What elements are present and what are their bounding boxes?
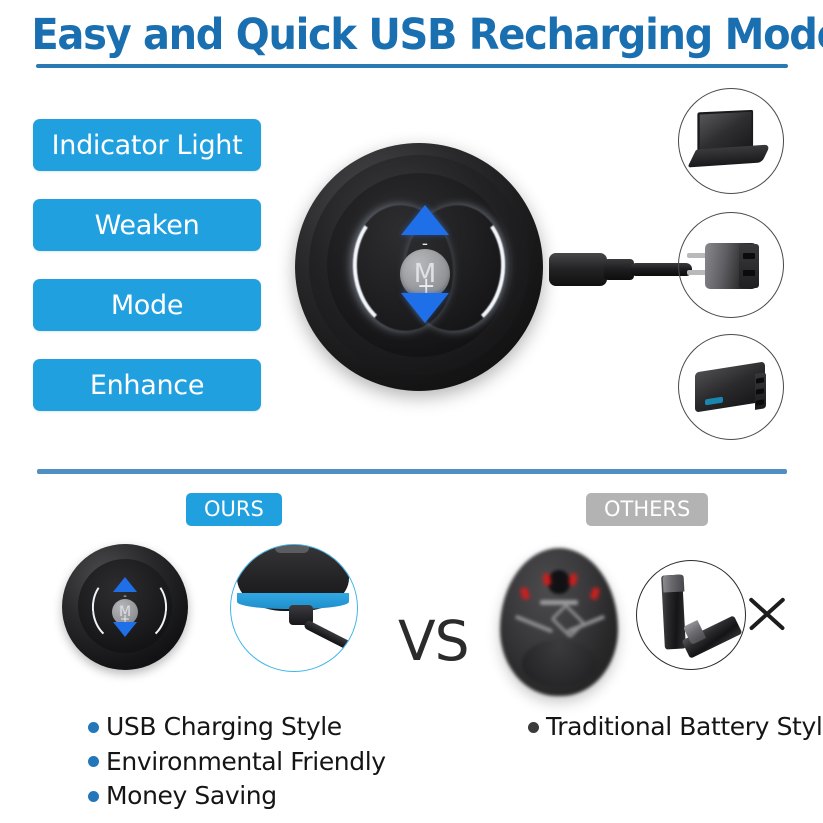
main-device-image: - M +: [295, 143, 555, 403]
feature-chip-enhance[interactable]: Enhance: [33, 359, 261, 411]
list-item: USB Charging Style: [88, 712, 386, 743]
list-item: Money Saving: [88, 781, 386, 812]
list-item-label: Environmental Friendly: [106, 747, 386, 778]
infographic-page: Easy and Quick USB Recharging Modes Indi…: [0, 0, 823, 823]
ours-benefit-list: USB Charging Style Environmental Friendl…: [88, 712, 386, 816]
feature-chip-label: Mode: [111, 292, 183, 319]
bullet-dot-icon: [88, 722, 99, 733]
others-device-stripe: [515, 615, 554, 634]
list-item: Traditional Battery Styles: [528, 712, 823, 743]
usb-cable-connector: [549, 253, 607, 286]
list-item-label: USB Charging Style: [106, 712, 342, 743]
list-item: Environmental Friendly: [88, 747, 386, 778]
feature-chip-indicator-light[interactable]: Indicator Light: [33, 119, 261, 171]
bullet-dot-icon: [88, 756, 99, 767]
ours-badge-label: OURS: [204, 499, 264, 520]
power-bank-icon: [678, 334, 784, 440]
usb-port-closeup-image: [230, 544, 358, 672]
vs-label: VS: [398, 614, 469, 669]
list-item-label: Money Saving: [106, 781, 277, 812]
others-device-led: [520, 587, 529, 599]
bullet-dot-icon: [88, 791, 99, 802]
adapter-face: [739, 244, 759, 288]
feature-chip-mode[interactable]: Mode: [33, 279, 261, 331]
list-item-label: Traditional Battery Styles: [546, 712, 823, 743]
adapter-pin: [687, 270, 707, 275]
weaken-triangle-up-icon[interactable]: [401, 205, 449, 235]
adapter-usb-port: [743, 253, 755, 259]
page-title-text: Easy and Quick USB Recharging Modes: [31, 14, 823, 57]
others-badge: OTHERS: [586, 493, 708, 526]
others-device-image: [500, 548, 618, 696]
others-device-lower: [522, 640, 596, 686]
others-device-center: [548, 570, 570, 594]
ours-triangle-down-icon: [113, 622, 137, 637]
bullet-dot-icon: [528, 722, 539, 733]
battery-icon: [636, 560, 746, 670]
title-underline: [36, 64, 788, 68]
battery-vertical-cap: [663, 574, 685, 592]
enhance-triangle-down-icon[interactable]: [401, 293, 449, 323]
feature-label-list: Indicator Light Weaken Mode Enhance: [33, 119, 261, 439]
wall-adapter-icon: [678, 212, 784, 318]
others-device-led: [590, 587, 599, 599]
others-drawback-list: Traditional Battery Styles: [528, 712, 823, 747]
adapter-usb-port: [743, 270, 755, 276]
feature-chip-label: Enhance: [90, 372, 204, 399]
others-badge-label: OTHERS: [604, 499, 690, 520]
page-title: Easy and Quick USB Recharging Modes: [0, 14, 823, 57]
others-device-diamond: [550, 603, 585, 638]
laptop-icon: [678, 88, 784, 194]
ours-badge: OURS: [186, 493, 282, 526]
feature-chip-label: Weaken: [95, 212, 200, 239]
feature-chip-label: Indicator Light: [52, 132, 243, 159]
section-divider: [37, 469, 787, 474]
x-cross-icon: [744, 592, 788, 636]
others-device-led: [569, 574, 577, 586]
adapter-pin: [687, 253, 707, 258]
closeup-device-top-detail: [275, 544, 309, 553]
feature-chip-weaken[interactable]: Weaken: [33, 199, 261, 251]
ours-triangle-up-icon: [113, 577, 137, 592]
others-device-bar: [540, 600, 578, 605]
closeup-usb-cord: [303, 619, 358, 653]
ours-device-image: - M +: [62, 544, 188, 670]
